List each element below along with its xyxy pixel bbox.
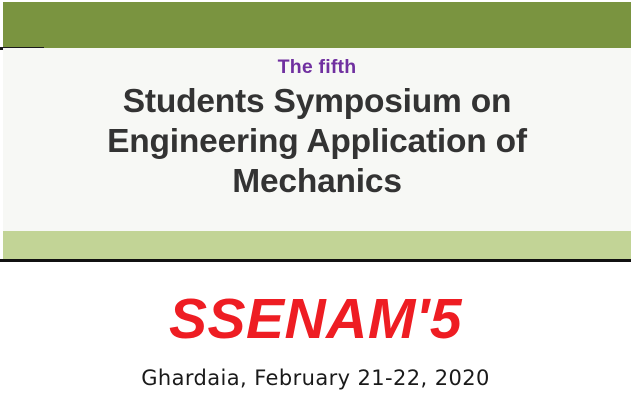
page-title-line-1: Students Symposium on — [3, 82, 631, 122]
page-title: Students Symposium on Engineering Applic… — [3, 82, 631, 202]
event-location-date: Ghardaia, February 21-22, 2020 — [0, 365, 631, 391]
page-title-line-3: Mechanics — [3, 162, 631, 202]
header-green-band — [3, 2, 631, 48]
header-band-left-margin — [0, 2, 3, 48]
page-title-line-2: Engineering Application of — [3, 122, 631, 162]
title-panel: The fifth Students Symposium on Engineer… — [3, 48, 631, 231]
conference-title-slide: The fifth Students Symposium on Engineer… — [0, 0, 631, 410]
ssenam-wordmark: SSENAM'5 — [0, 288, 631, 350]
footer-band-divider — [0, 259, 631, 262]
footer-light-green-band — [3, 231, 631, 259]
edition-kicker: The fifth — [3, 58, 631, 78]
